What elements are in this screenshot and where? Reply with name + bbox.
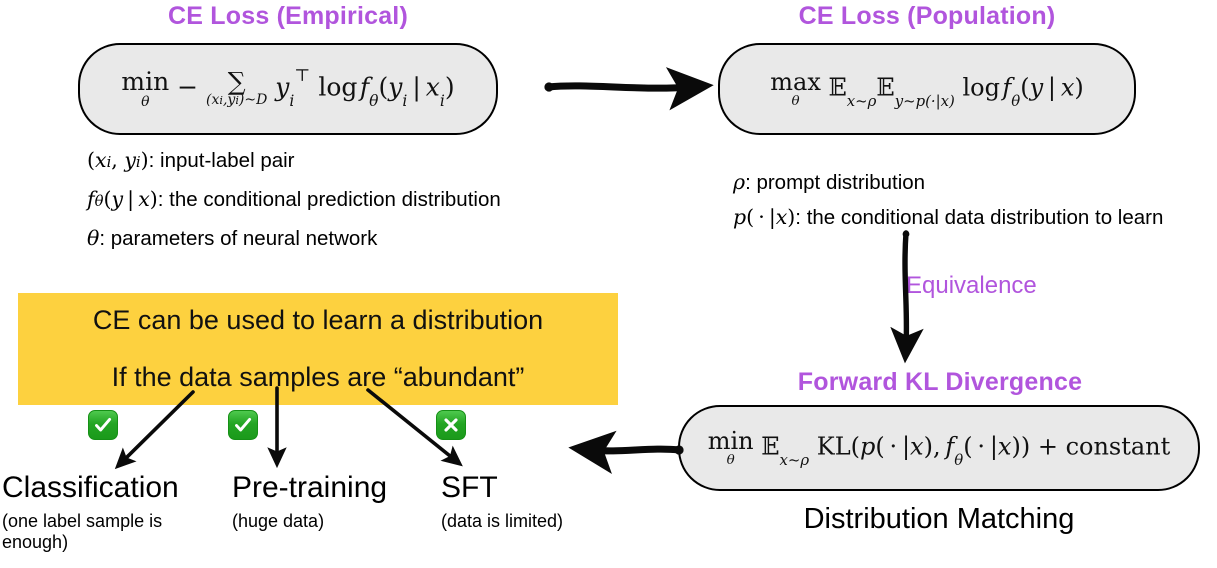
arrow-left-kl-to-outcomes: [592, 445, 684, 454]
arrow-callout-to-sft: [368, 390, 455, 460]
arrow-right-empirical-to-population: [544, 82, 690, 91]
arrow-callout-to-classification: [122, 392, 193, 462]
arrow-layer: [0, 0, 1217, 568]
diagram-canvas: CE Loss (Empirical) minθ − ∑(xi,yi)~D yi…: [0, 0, 1217, 568]
arrow-down-equivalence: [903, 231, 910, 345]
